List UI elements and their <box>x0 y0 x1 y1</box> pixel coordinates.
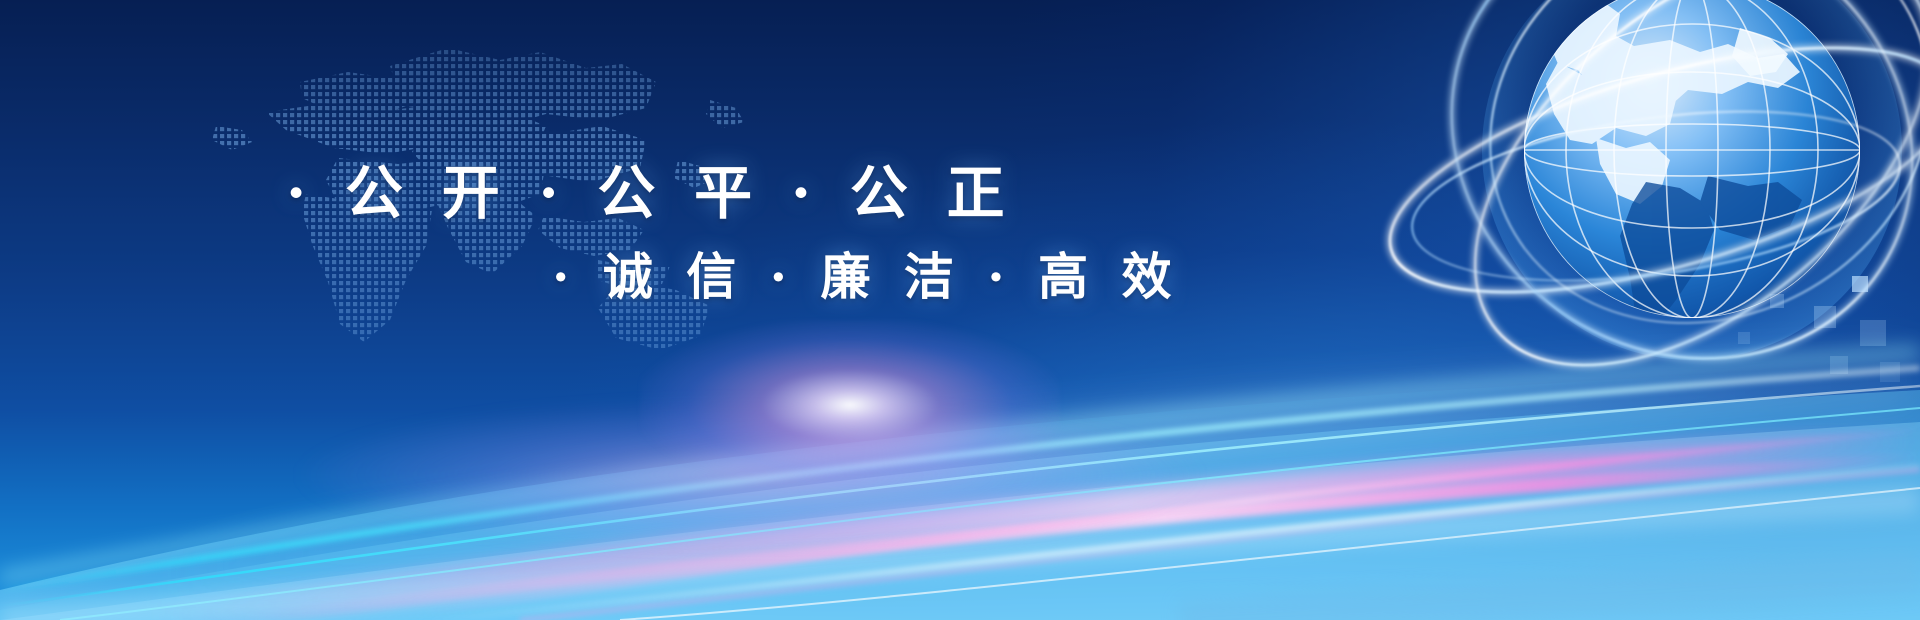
wave-flare-core <box>640 320 1060 490</box>
globe-icon <box>1310 0 1920 440</box>
banner-root: · 公 开 · 公 平 · 公 正 · 诚 信 · 廉 洁 · 高 效 <box>0 0 1920 620</box>
wave-flare-halo <box>300 400 1200 550</box>
slogan-line-2: · 诚 信 · 廉 洁 · 高 效 <box>552 237 1179 309</box>
slogan-block: · 公 开 · 公 平 · 公 正 · 诚 信 · 廉 洁 · 高 效 <box>0 0 1120 620</box>
orbit-rings-icon <box>1365 0 1920 447</box>
slogan-line-1: · 公 开 · 公 平 · 公 正 <box>286 146 1014 230</box>
pixel-squares-icon <box>1710 250 1910 410</box>
light-wave-streaks-icon <box>0 290 1920 620</box>
dotted-world-map-icon <box>38 8 758 348</box>
